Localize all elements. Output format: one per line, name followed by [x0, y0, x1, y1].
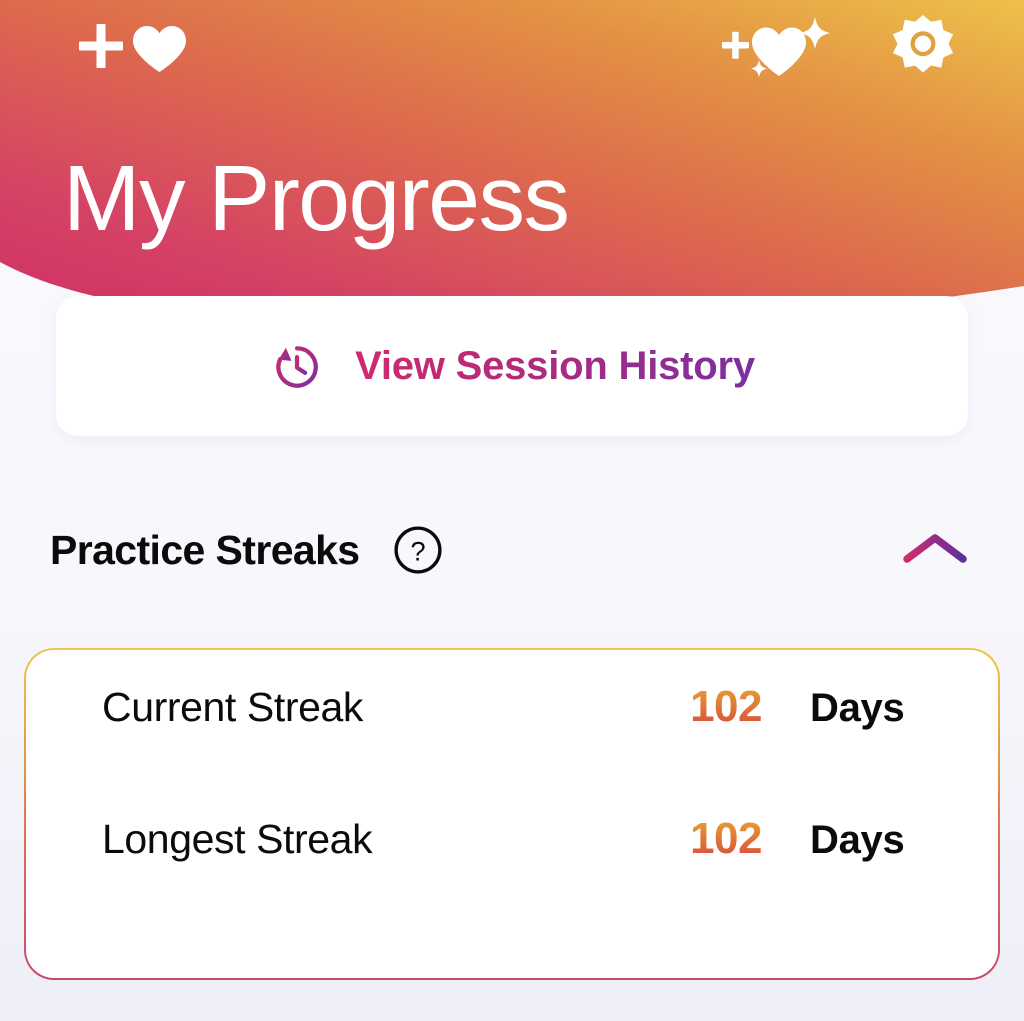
- chevron-up-icon: [898, 526, 972, 574]
- header-icon-row: [0, 0, 1024, 110]
- plus-heart-glyph: [73, 16, 201, 80]
- longest-streak-unit: Days: [762, 818, 922, 863]
- page-title: My Progress: [63, 148, 568, 248]
- longest-streak-label: Longest Streak: [102, 816, 372, 863]
- streak-row-current: Current Streak 102 Days: [102, 682, 922, 814]
- current-streak-value: 102: [690, 682, 762, 732]
- streaks-card-body: Current Streak 102 Days Longest Streak 1…: [26, 650, 998, 978]
- gear-glyph: [886, 14, 960, 84]
- view-session-history-label: View Session History: [355, 344, 755, 389]
- settings-gear-icon[interactable]: [880, 14, 966, 84]
- history-clock-icon: [269, 339, 325, 395]
- header-banner: My Progress: [0, 0, 1024, 330]
- practice-streaks-title: Practice Streaks: [50, 527, 360, 574]
- my-progress-screen: My Progress View Session History Practic…: [0, 0, 1024, 1021]
- collapse-practice-streaks-button[interactable]: [896, 518, 974, 582]
- add-favorite-icon[interactable]: [72, 12, 202, 84]
- current-streak-unit: Days: [762, 686, 922, 731]
- current-streak-label: Current Streak: [102, 684, 363, 731]
- question-mark-circle-icon[interactable]: ?: [392, 524, 444, 576]
- sparkle-heart-glyph: [719, 13, 835, 83]
- longest-streak-value: 102: [690, 814, 762, 864]
- practice-streaks-header: Practice Streaks ?: [50, 512, 974, 588]
- streak-row-longest: Longest Streak 102 Days: [102, 814, 922, 946]
- view-session-history-button[interactable]: View Session History: [56, 296, 968, 436]
- sparkle-heart-icon[interactable]: [718, 12, 836, 84]
- svg-text:?: ?: [410, 535, 425, 566]
- streaks-card: Current Streak 102 Days Longest Streak 1…: [24, 648, 1000, 980]
